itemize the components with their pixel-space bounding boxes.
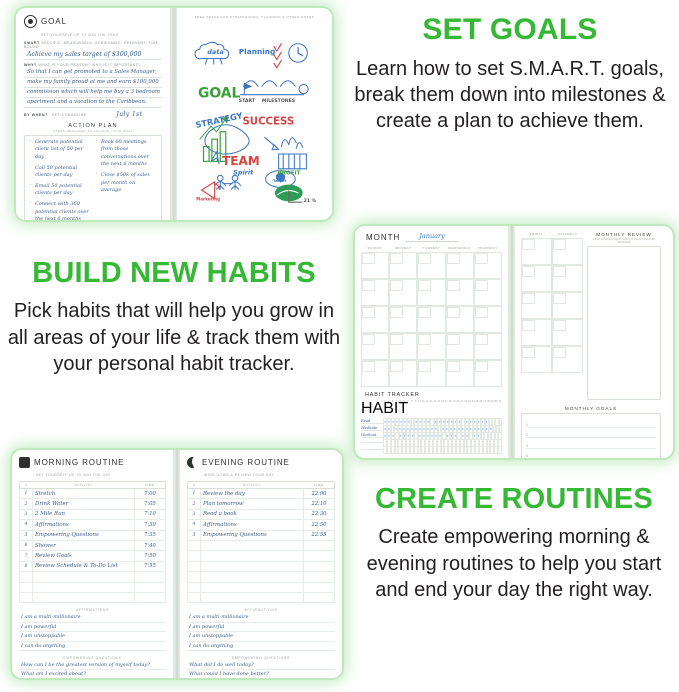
goal-spread-image: GOAL SET YOURSELF UP TO WIN THE YEAR SMA… [16, 8, 332, 220]
monthly-goals-title: MONTHLY GOALS [521, 406, 661, 411]
goal-page-right-doodles: FREE SPACE FOR STRATEGIZING, PLANNING & … [177, 8, 332, 220]
action-plan-item: Call 50 potential clients per day [30, 165, 90, 180]
morning-affirmations-title: AFFIRMATIONS [19, 608, 166, 612]
habit-row-empty [361, 446, 502, 453]
evening-routine-header: EVENING ROUTINE [187, 457, 335, 468]
calendar-day-cell[interactable] [552, 346, 583, 373]
affirmation-line[interactable]: I can do anything [187, 642, 335, 651]
why-line: commission which will help me buy a 3 be… [24, 88, 162, 98]
routine-number: 5 [188, 530, 201, 540]
routine-row-empty[interactable] [188, 582, 335, 592]
evening-routine-title: EVENING ROUTINE [202, 458, 290, 467]
routine-row[interactable]: 4Affirmations22:50 [188, 520, 335, 530]
calendar-grid-left [361, 252, 502, 387]
calendar-day-cell[interactable] [474, 279, 502, 306]
routine-number: 3 [188, 509, 201, 519]
calendar-day-cell[interactable] [552, 238, 583, 265]
calendar-day-cell[interactable] [474, 360, 502, 387]
calendar-day-cell[interactable] [446, 306, 474, 333]
calendar-day-cell[interactable] [417, 252, 445, 279]
calendar-day-cell[interactable] [389, 252, 417, 279]
day-number-row: 1234567891011121314151617181920212223242… [383, 400, 502, 418]
monthly-spread-image: MONTH January SUNDAY MONDAY TUESDAY WEDN… [355, 226, 673, 458]
calendar-day-cell[interactable] [446, 360, 474, 387]
affirmation-line[interactable]: I can do anything [19, 642, 166, 651]
routine-activity: Stretch [33, 489, 135, 499]
morning-affirmations: I am a multi-millionaireI am powerfulI a… [19, 613, 166, 651]
month-title: MONTH [366, 233, 400, 242]
routine-row-empty[interactable] [188, 551, 335, 561]
habit-name[interactable] [361, 449, 383, 450]
feature-set-goals: SET GOALS Learn how to set S.M.A.R.T. go… [345, 14, 675, 135]
habit-tracker-title: HABIT TRACKER [365, 392, 420, 398]
month-header: MONTH January [361, 232, 502, 242]
routine-activity: Review Schedule & To-Do List [33, 561, 135, 571]
routine-activity: Affirmations [33, 520, 135, 530]
calendar-day-cell[interactable] [417, 360, 445, 387]
routine-time: 7:55 [135, 561, 166, 571]
calendar-day-cell[interactable] [521, 292, 552, 319]
action-plan-item: Email 50 potential clients per day [30, 183, 90, 198]
calendar-day-cell[interactable] [474, 333, 502, 360]
calendar-day-cell[interactable] [552, 265, 583, 292]
goal-page-title: GOAL [41, 17, 67, 26]
goal-number: 3 [526, 444, 532, 448]
question-line[interactable]: What could I have done better? [187, 670, 335, 678]
habit-name[interactable]: Meditate [361, 426, 383, 431]
action-plan-item: Connect with 360 potential clients over … [30, 201, 90, 220]
question-line[interactable]: What am I excited about? [19, 670, 166, 678]
habit-name[interactable]: Read [361, 419, 383, 424]
month-value: January [405, 232, 459, 242]
col-activity: ACTIVITY [33, 482, 135, 489]
morning-routine-title: MORNING ROUTINE [34, 458, 124, 467]
calendar-day-cell[interactable] [389, 360, 417, 387]
calendar-day-cell[interactable] [389, 333, 417, 360]
feature-body: Learn how to set S.M.A.R.T. goals, break… [345, 56, 675, 135]
calendar-day-cell[interactable] [417, 306, 445, 333]
action-plan-column-left: Generate potential client list of 50 per… [27, 139, 93, 220]
routine-number: 2 [20, 499, 33, 509]
deadline-label: BY WHEN? SET A DEADLINE July 1st [24, 111, 162, 118]
svg-text:Target: Target [273, 179, 286, 183]
svg-text:Spirit: Spirit [233, 168, 254, 176]
calendar-day-cell[interactable] [521, 265, 552, 292]
why-line: So that I can get promoted to a Sales Ma… [24, 68, 162, 78]
action-plan-item: Book 60 meetings from those conversation… [96, 139, 156, 169]
routine-time: 22:00 [304, 489, 335, 499]
monthly-goal-row[interactable]: 2 [526, 428, 656, 439]
svg-text:Marketing: Marketing [196, 196, 220, 201]
habit-cell[interactable] [498, 446, 502, 454]
routine-time: 7:10 [135, 509, 166, 519]
action-plan-subtitle: STEPS REQUIRED TO ACHIEVE YOUR GOAL [24, 129, 162, 133]
routine-row[interactable]: 5Empowering Questions7:35 [20, 530, 166, 540]
routine-row[interactable]: 5Empowering Questions22:55 [188, 530, 335, 540]
calendar-day-cell[interactable] [389, 306, 417, 333]
routine-number: 2 [188, 499, 201, 509]
routine-row[interactable]: 32 Mile Run7:10 [20, 509, 166, 519]
calendar-day-cell[interactable] [361, 252, 389, 279]
affirmation-line[interactable]: I am powerful [187, 623, 335, 632]
calendar-day-cell[interactable] [521, 238, 552, 265]
why-label: WHY? WHAT IS YOUR REASON? WHY IS IT IMPO… [24, 63, 162, 67]
routine-time: 7:05 [135, 499, 166, 509]
question-line[interactable]: What did I do well today? [187, 661, 335, 670]
calendar-day-cell[interactable] [446, 279, 474, 306]
evening-affirmations-title: AFFIRMATIONS [187, 608, 335, 612]
svg-text:SUCCESS: SUCCESS [242, 116, 294, 127]
routine-activity: Shower [33, 540, 135, 550]
routine-time: 7:00 [135, 489, 166, 499]
routine-time: 7:40 [135, 540, 166, 550]
habit-name[interactable]: Workout [361, 433, 383, 438]
doodle-page-header: FREE SPACE FOR STRATEGIZING, PLANNING & … [185, 15, 324, 19]
doodle-canvas: data Planning GOAL START MILESTONES STRA… [185, 21, 324, 211]
col-number: # [20, 482, 33, 489]
monthly-review-box[interactable] [587, 246, 661, 400]
calendar-day-cell[interactable] [446, 333, 474, 360]
svg-text:START: START [239, 98, 256, 104]
routine-number: 6 [20, 540, 33, 550]
routine-row-empty[interactable] [188, 592, 335, 602]
month-page-right: FRIDAY SATURDAY MONTHLY REVIEW WHAT WORK… [515, 226, 667, 458]
monthly-goal-row[interactable]: 1 [526, 417, 656, 428]
routine-time: 22:50 [304, 520, 335, 530]
habit-rows: Read××××××××××××××××××××××××Meditate××××… [361, 418, 502, 453]
affirmation-line[interactable]: I am unstoppable [187, 632, 335, 641]
col-time: TIME [135, 482, 166, 489]
smart-label: SMART SPECIFIC, MEASURABLE, ACHIEVABLE, … [24, 41, 162, 49]
svg-text:GOAL: GOAL [198, 85, 241, 101]
svg-text:Planning: Planning [239, 47, 276, 56]
calendar-day-cell[interactable] [361, 279, 389, 306]
routine-number: 7 [20, 551, 33, 561]
goal-number: 1 [526, 423, 532, 427]
affirmation-line[interactable]: I am unstoppable [19, 632, 166, 641]
routine-activity: Review the day [201, 489, 304, 499]
calendar-day-cell[interactable] [552, 319, 583, 346]
habit-col-label: HABIT [361, 400, 383, 418]
routine-number: 4 [20, 520, 33, 530]
col-time: TIME [304, 482, 335, 489]
morning-questions: How can I be the greatest version of mys… [19, 661, 166, 678]
habit-tracker-header: HABIT TRACKER [361, 392, 502, 398]
routine-number: 4 [188, 520, 201, 530]
monthly-goal-row[interactable]: 3 [526, 438, 656, 449]
evening-routine-subtitle: WIND DOWN & REVIEW YOUR DAY [204, 473, 335, 477]
why-line: apartment and a vacation to the Caribbea… [24, 98, 162, 108]
routine-row[interactable]: 4Affirmations7:30 [20, 520, 166, 530]
routine-time: 7:35 [135, 530, 166, 540]
routine-activity: Plan tomorrow [201, 499, 304, 509]
question-line[interactable]: How can I be the greatest version of mys… [19, 661, 166, 670]
calendar-day-cell[interactable] [417, 279, 445, 306]
target-icon [24, 15, 37, 28]
routine-activity: Empowering Questions [33, 530, 135, 540]
routine-number: 3 [20, 509, 33, 519]
routine-activity: Affirmations [201, 520, 304, 530]
svg-text:PROFIT: PROFIT [278, 170, 301, 176]
routines-spread-image: MORNING ROUTINE SET YOURSELF UP TO WIN T… [12, 450, 342, 678]
action-plan-item: Generate potential client list of 50 per… [30, 139, 90, 161]
morning-routine-header: MORNING ROUTINE [19, 457, 166, 468]
routine-number: 8 [20, 561, 33, 571]
calendar-day-cell[interactable] [361, 306, 389, 333]
feature-build-new-habits: BUILD NEW HABITS Pick habits that will h… [6, 258, 342, 378]
svg-text:data: data [207, 48, 223, 56]
affirmation-line[interactable]: I am powerful [19, 623, 166, 632]
habit-name[interactable] [361, 442, 383, 443]
goal-number: 2 [526, 433, 532, 437]
routine-row[interactable]: 6Shower7:40 [20, 540, 166, 550]
evening-questions: What did I do well today?What could I ha… [187, 661, 335, 678]
calendar-day-cell[interactable] [552, 292, 583, 319]
goal-number: 4 [526, 454, 532, 458]
routine-row-empty[interactable] [20, 582, 166, 592]
morning-routine-page: MORNING ROUTINE SET YOURSELF UP TO WIN T… [12, 450, 174, 678]
routine-activity: Empowering Questions [201, 530, 304, 540]
routine-row[interactable]: 2Drink Water7:05 [20, 499, 166, 509]
moon-icon [187, 457, 198, 468]
doodle-sketch-icon: data Planning GOAL START MILESTONES STRA… [185, 21, 324, 211]
monthly-review-title: MONTHLY REVIEW [587, 232, 661, 237]
routine-activity: Review Goals [33, 551, 135, 561]
monthly-goals-box: 123456 [521, 413, 661, 458]
routine-time: 22:55 [304, 530, 335, 540]
calendar-grid-right [521, 238, 583, 373]
affirmation-line[interactable]: I am a multi-millionaire [187, 613, 335, 622]
evening-routine-table: # ACTIVITY TIME 1Review the day22:002Pla… [187, 481, 335, 603]
calendar-day-cell[interactable] [361, 333, 389, 360]
evening-questions-title: EMPOWERING QUESTIONS [187, 656, 335, 660]
routine-row[interactable]: 1Review the day22:00 [188, 489, 335, 499]
feature-create-routines: CREATE ROUTINES Create empowering mornin… [352, 484, 676, 604]
feature-body: Create empowering morning & evening rout… [352, 524, 676, 603]
smart-goal-value: Achieve my sales target of $300,000 [24, 50, 162, 60]
action-plan-column-right: Book 60 meetings from those conversation… [93, 139, 159, 220]
feature-heading: CREATE ROUTINES [352, 484, 676, 514]
monthly-review-subtitle: WHAT WORKED, WHAT DIDN'T & WHAT COULD BE… [587, 238, 661, 244]
calendar-day-cell[interactable] [521, 346, 552, 373]
routine-row-empty[interactable] [20, 592, 166, 602]
feature-heading: SET GOALS [345, 14, 675, 46]
marketing-collage: GOAL SET YOURSELF UP TO WIN THE YEAR SMA… [0, 0, 679, 692]
calendar-day-cell[interactable] [474, 252, 502, 279]
action-plan-box: Generate potential client list of 50 per… [24, 135, 162, 220]
morning-questions-title: EMPOWERING QUESTIONS [19, 656, 166, 660]
goal-page-header: GOAL [24, 15, 162, 28]
calendar-day-cell[interactable] [521, 319, 552, 346]
svg-text:TEAM: TEAM [222, 154, 260, 168]
habit-day-numbers: HABIT 1234567891011121314151617181920212… [361, 400, 502, 418]
routine-number: 5 [20, 530, 33, 540]
routine-row[interactable]: 1Stretch7:00 [20, 489, 166, 499]
routine-row[interactable]: 8Review Schedule & To-Do List7:55 [20, 561, 166, 571]
action-plan-item: Close $50k of sales per month on average [96, 172, 156, 194]
calendar-day-cell[interactable] [446, 252, 474, 279]
calendar-day-cell[interactable] [389, 279, 417, 306]
svg-text:MILESTONES: MILESTONES [262, 98, 295, 104]
routine-activity: 2 Mile Run [33, 509, 135, 519]
routine-row[interactable]: 2Plan tomorrow22:10 [188, 499, 335, 509]
routine-time: 22:10 [304, 499, 335, 509]
monthly-goal-row[interactable]: 4 [526, 449, 656, 459]
routine-row-empty[interactable] [20, 572, 166, 582]
col-activity: ACTIVITY [201, 482, 304, 489]
routine-row-empty[interactable] [188, 561, 335, 571]
routine-row-empty[interactable] [188, 572, 335, 582]
routine-time: 7:50 [135, 551, 166, 561]
routine-number: 1 [20, 489, 33, 499]
calendar-day-cell[interactable] [474, 306, 502, 333]
calendar-day-cell[interactable] [361, 360, 389, 387]
feature-body: Pick habits that will help you grow in a… [6, 298, 342, 377]
month-page-left: MONTH January SUNDAY MONDAY TUESDAY WEDN… [355, 226, 509, 458]
routine-time: 7:30 [135, 520, 166, 530]
morning-header-row: # ACTIVITY TIME [20, 482, 166, 489]
sunrise-icon [19, 457, 30, 468]
calendar-day-cell[interactable] [417, 333, 445, 360]
evening-affirmations: I am a multi-millionaireI am powerfulI a… [187, 613, 335, 651]
goal-page-left: GOAL SET YOURSELF UP TO WIN THE YEAR SMA… [16, 8, 171, 220]
routine-activity: Read a book [201, 509, 304, 519]
morning-routine-table: # ACTIVITY TIME 1Stretch7:002Drink Water… [19, 481, 166, 603]
evening-header-row: # ACTIVITY TIME [188, 482, 335, 489]
goal-page-subtitle: SET YOURSELF UP TO WIN THE YEAR [41, 33, 162, 37]
routine-row-empty[interactable] [188, 540, 335, 550]
routine-activity: Drink Water [33, 499, 135, 509]
routine-row[interactable]: 7Review Goals7:50 [20, 551, 166, 561]
routine-number: 1 [188, 489, 201, 499]
day-number: 31 [498, 400, 502, 418]
morning-routine-subtitle: SET YOURSELF UP TO WIN THE DAY [36, 473, 166, 477]
routine-time: 22:30 [304, 509, 335, 519]
why-line: make my family proud at me and earn $100… [24, 78, 162, 88]
evening-routine-page: EVENING ROUTINE WIND DOWN & REVIEW YOUR … [180, 450, 342, 678]
routine-row[interactable]: 3Read a book22:30 [188, 509, 335, 519]
col-number: # [188, 482, 201, 489]
affirmation-line[interactable]: I am a multi-millionaire [19, 613, 166, 622]
feature-heading: BUILD NEW HABITS [6, 258, 342, 288]
deadline-value: July 1st [116, 111, 142, 118]
svg-text:21 %: 21 % [304, 198, 317, 204]
